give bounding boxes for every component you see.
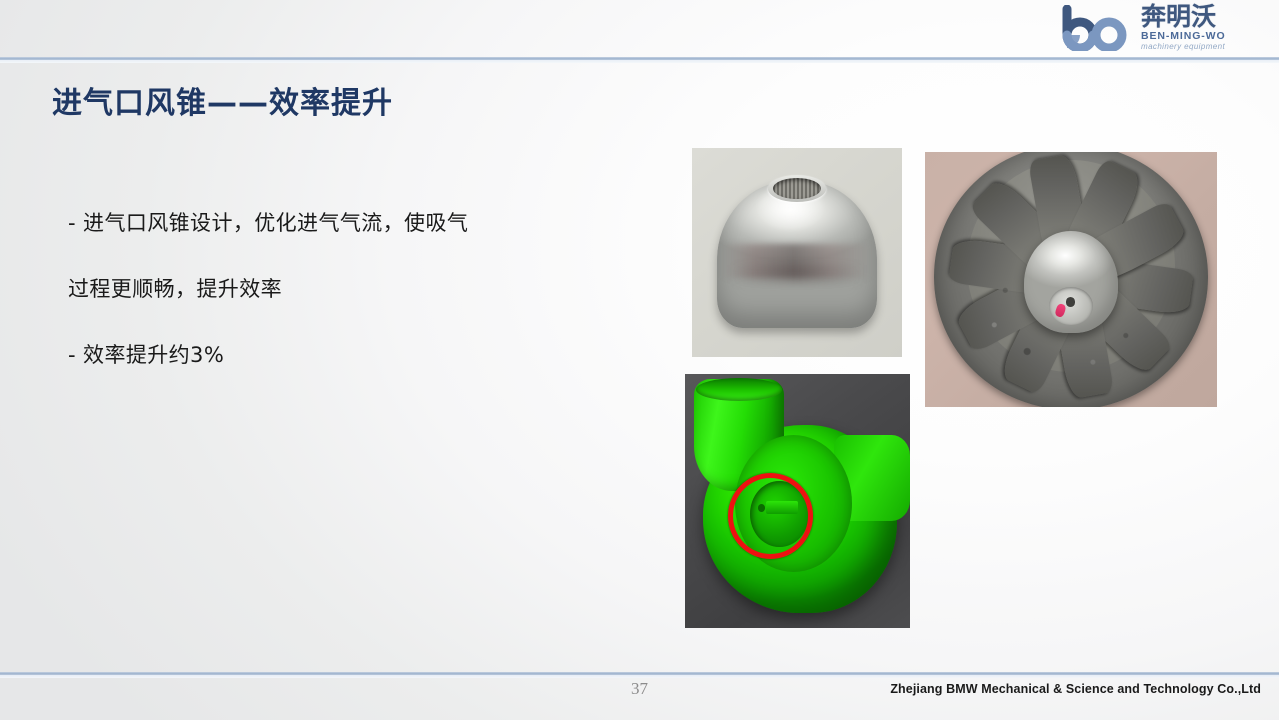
bullet-line-2: 过程更顺畅，提升效率 (68, 256, 628, 322)
slide-canvas: 奔明沃 BEN-MING-WO machinery equipment 进气口风… (0, 0, 1279, 720)
impeller-photo (925, 152, 1217, 407)
cad-model-photo (685, 374, 910, 628)
footer-divider-glow (0, 675, 1279, 678)
cad-inlet-flange (696, 378, 782, 401)
footer-company-name: Zhejiang BMW Mechanical & Science and Te… (890, 682, 1261, 696)
company-logo: 奔明沃 BEN-MING-WO machinery equipment (1057, 2, 1271, 54)
logo-chinese-name: 奔明沃 (1141, 4, 1226, 29)
intake-cone-photo (692, 148, 902, 357)
impeller-hub-bolt (1066, 297, 1075, 306)
slide-title: 进气口风锥——效率提升 (52, 78, 393, 122)
bullet-line-3: - 效率提升约3% (68, 322, 628, 388)
logo-english-name: BEN-MING-WO (1141, 30, 1226, 42)
cone-reflection-band-secondary (730, 265, 864, 284)
logo-tagline: machinery equipment (1141, 42, 1226, 52)
header-divider-glow (0, 60, 1279, 63)
bo-monogram-icon (1057, 5, 1139, 51)
bullet-line-1: - 进气口风锥设计，优化进气气流，使吸气 (68, 190, 628, 256)
logo-text-block: 奔明沃 BEN-MING-WO machinery equipment (1141, 4, 1226, 52)
cad-highlight-circle-annotation (728, 473, 814, 559)
bullet-text-block: - 进气口风锥设计，优化进气气流，使吸气 过程更顺畅，提升效率 - 效率提升约3… (68, 190, 628, 388)
